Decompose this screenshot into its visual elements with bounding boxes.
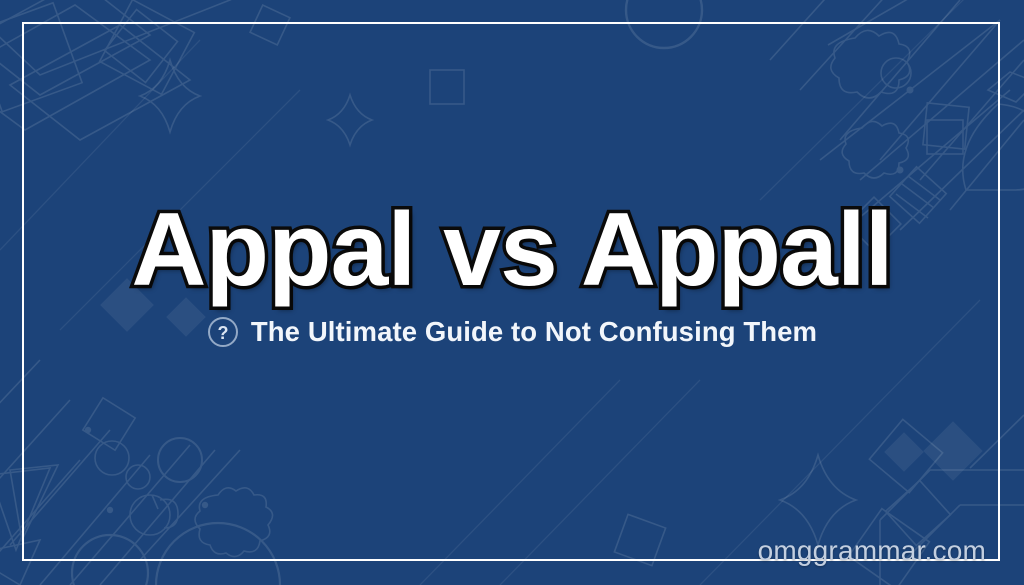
question-mark-circle-icon: ?: [207, 316, 239, 348]
subtitle-label: The Ultimate Guide to Not Confusing Them: [251, 316, 817, 348]
svg-text:?: ?: [217, 323, 228, 343]
site-watermark: omggrammar.com: [758, 535, 986, 567]
subtitle-row: ? The Ultimate Guide to Not Confusing Th…: [207, 316, 817, 348]
card-content: Appal vs Appall ? The Ultimate Guide to …: [0, 0, 1024, 585]
page-title: Appal vs Appall: [131, 197, 892, 303]
blog-header-card: Appal vs Appall ? The Ultimate Guide to …: [0, 0, 1024, 585]
